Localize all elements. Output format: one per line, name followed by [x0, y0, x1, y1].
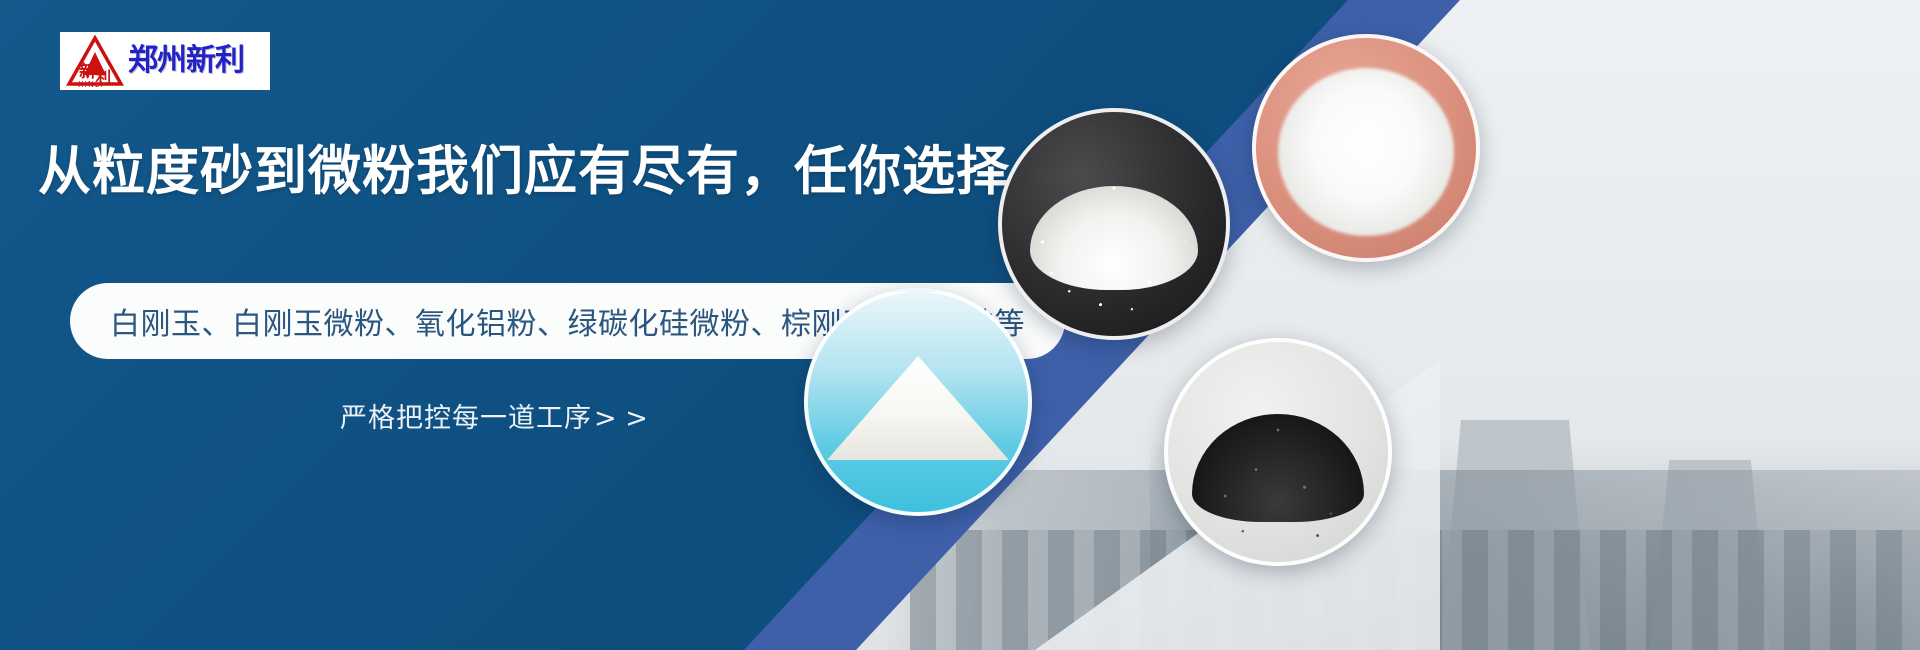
granule-specks — [1168, 342, 1388, 562]
company-name: 郑州新利 — [128, 46, 244, 76]
promo-banner: 新 利 XINLI 郑州新利 从粒度砂到微粉我们应有尽有，任你选择 白刚玉、白刚… — [0, 0, 1920, 650]
tagline-arrows: > > — [594, 403, 648, 434]
xinli-triangle-icon: 新 利 XINLI — [66, 35, 124, 87]
product-image-white-powder-cone — [804, 288, 1032, 516]
product-image-white-fused-alumina-grit — [998, 108, 1230, 340]
powder-pile — [1278, 68, 1454, 236]
svg-text:XINLI: XINLI — [78, 80, 104, 87]
powder-cone — [827, 356, 1009, 460]
headline: 从粒度砂到微粉我们应有尽有，任你选择 — [38, 144, 1010, 200]
product-image-black-silicon-carbide-grit — [1164, 338, 1392, 566]
tagline-text: 严格把控每一道工序 — [340, 403, 592, 434]
company-logo[interactable]: 新 利 XINLI 郑州新利 — [60, 32, 270, 90]
grit-specks — [1002, 112, 1226, 336]
svg-text:新: 新 — [79, 61, 96, 82]
product-image-white-alumina-micro-powder — [1252, 34, 1480, 262]
tagline[interactable]: 严格把控每一道工序> > — [340, 396, 648, 435]
